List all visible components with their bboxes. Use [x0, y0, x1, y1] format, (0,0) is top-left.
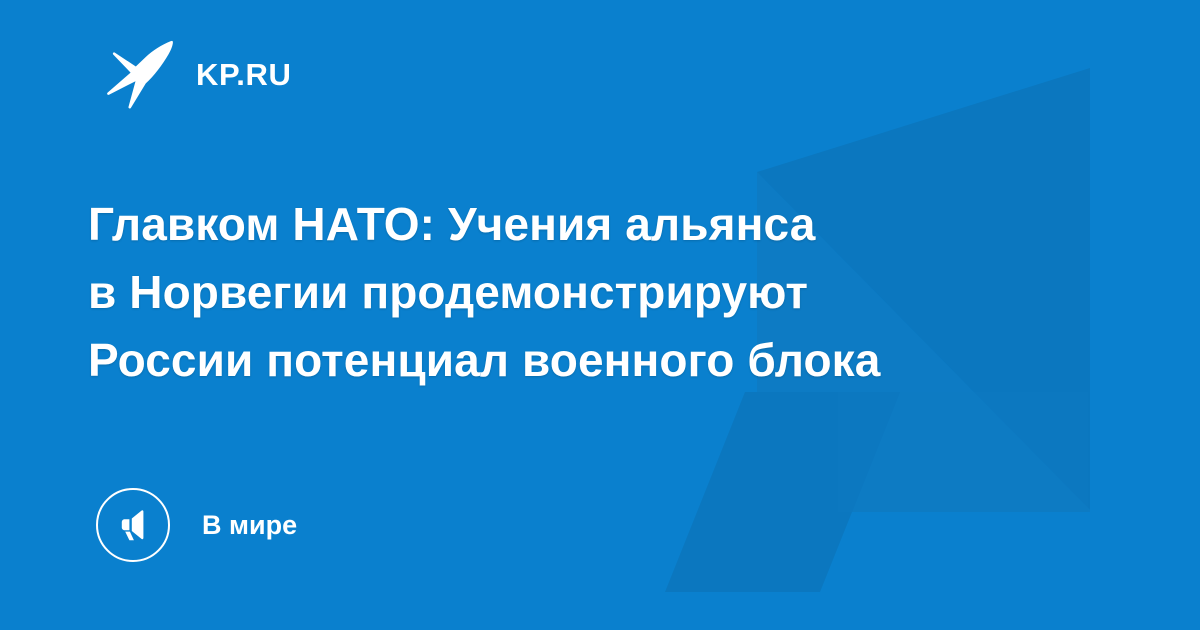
headline-line-2: в Норвегии продемонстрируют [88, 258, 1098, 326]
watermark-tail [665, 392, 900, 592]
share-card: KP.RU Главком НАТО: Учения альянса в Нор… [0, 0, 1200, 630]
brand-name: KP.RU [196, 59, 291, 90]
headline-line-3: России потенциал военного блока [88, 326, 1098, 394]
swallow-bird-logo-icon[interactable] [104, 38, 174, 110]
page-title: Главком НАТО: Учения альянса в Норвегии … [88, 190, 1098, 394]
site-header: KP.RU [104, 36, 291, 112]
watermark-highlight [838, 392, 1088, 512]
rubric-label: В мире [202, 512, 297, 539]
rubric-badge[interactable]: В мире [96, 486, 297, 564]
megaphone-icon [96, 488, 170, 562]
headline-line-1: Главком НАТО: Учения альянса [88, 190, 1098, 258]
